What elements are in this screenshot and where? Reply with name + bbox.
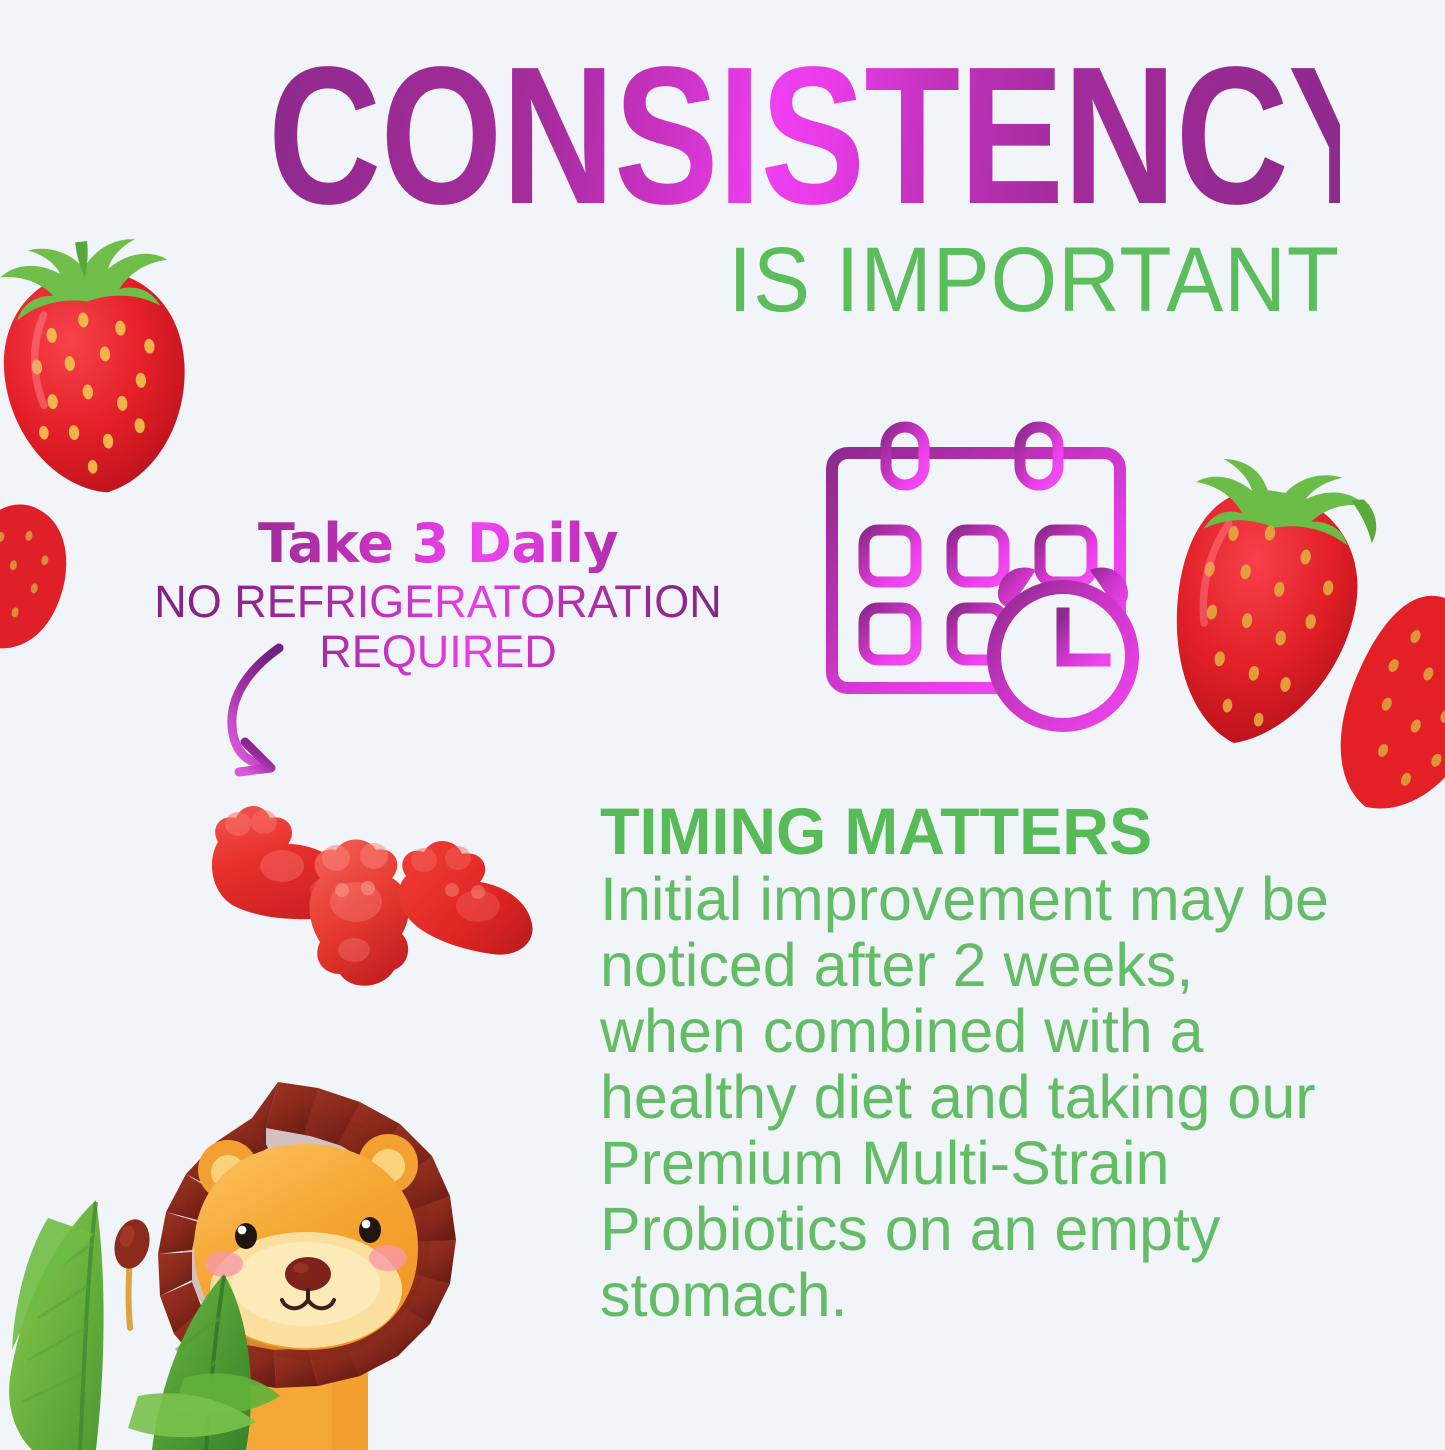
daily-heading: Take 3 Daily — [118, 516, 758, 573]
refrigeration-note-line1: NO REFRIGERATORATION — [154, 576, 722, 627]
lion-mascot-icon — [0, 1078, 518, 1450]
page-title: CONSISTENCY — [268, 44, 1340, 228]
page-subtitle: IS IMPORTANT — [94, 234, 1340, 326]
calendar-clock-icon — [812, 418, 1160, 740]
refrigeration-note-line2: REQUIRED — [319, 626, 557, 677]
gummy-bears-icon — [196, 778, 566, 1018]
headline-block: CONSISTENCY IS IMPORTANT — [0, 44, 1340, 326]
timing-heading: TIMING MATTERS — [600, 798, 1325, 865]
timing-block: TIMING MATTERS Initial improvement may b… — [600, 798, 1340, 1328]
timing-body: Initial improvement may be noticed after… — [600, 867, 1340, 1328]
strawberry-icon — [0, 481, 87, 662]
infographic-canvas: CONSISTENCY IS IMPORTANT — [0, 0, 1445, 1445]
curved-arrow-icon — [205, 638, 325, 778]
